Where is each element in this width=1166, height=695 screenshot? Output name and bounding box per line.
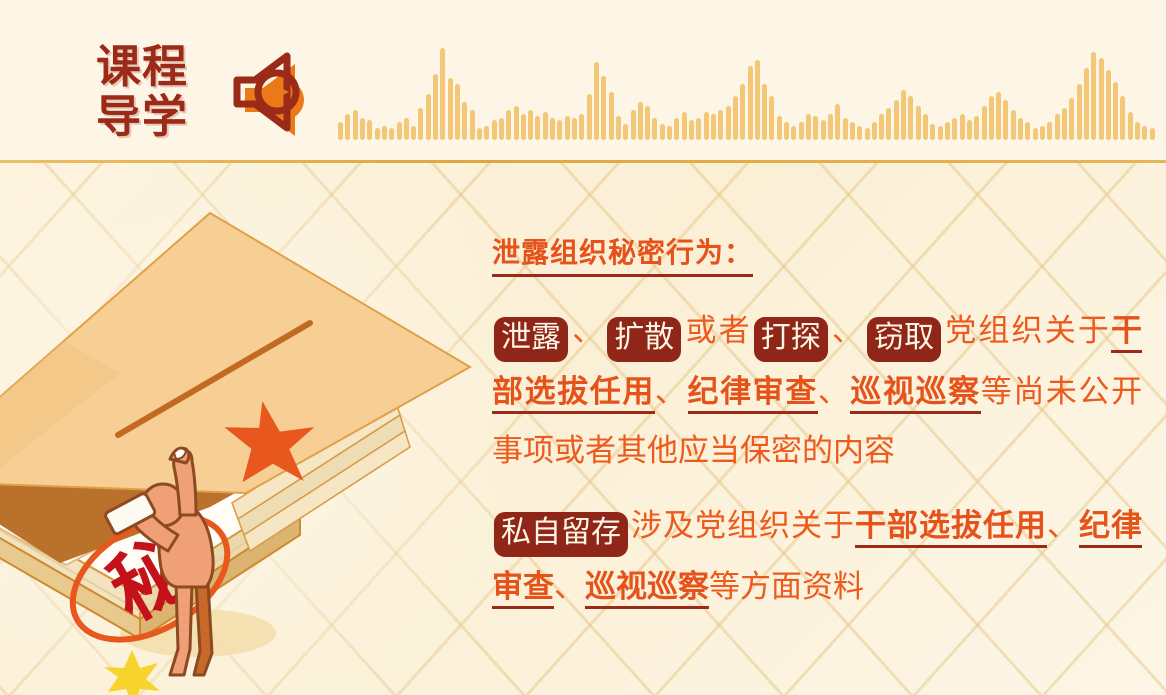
- waveform-bar: [1142, 126, 1147, 140]
- waveform-bar: [652, 118, 657, 140]
- waveform-bar: [1003, 100, 1008, 140]
- waveform-bar: [901, 90, 906, 140]
- waveform-bar: [799, 122, 804, 140]
- waveform-bar: [345, 114, 350, 140]
- waveform-bar: [1120, 96, 1125, 140]
- waveform-bar: [550, 118, 555, 140]
- waveform-bar: [1113, 82, 1118, 140]
- brand-title-line-1: 课程: [96, 42, 214, 92]
- waveform-bar: [499, 118, 504, 140]
- waveform-bar: [375, 128, 380, 140]
- waveform-bar: [1128, 112, 1133, 140]
- waveform-bar: [938, 126, 943, 140]
- waveform-bar: [638, 102, 643, 140]
- separator-4: 、: [818, 374, 851, 409]
- tag-spread: 扩散: [607, 317, 681, 362]
- waveform-bar: [857, 126, 862, 140]
- waveform-bar: [601, 76, 606, 140]
- waveform-bar: [557, 120, 562, 140]
- paragraph-leak-behaviour: 泄露、扩散或者打探、窃取党组织关于干部选拔任用、纪律审查、巡视巡察等尚未公开事项…: [492, 301, 1142, 480]
- waveform-bar: [835, 104, 840, 140]
- waveform-bar: [989, 96, 994, 140]
- waveform-bar: [367, 120, 372, 140]
- audio-waveform: [338, 22, 1156, 140]
- waveform-bar: [1047, 122, 1052, 140]
- waveform-bar: [696, 118, 701, 140]
- waveform-bar: [923, 114, 928, 140]
- waveform-bar: [543, 112, 548, 140]
- waveform-bar: [1069, 98, 1074, 140]
- waveform-bar: [843, 118, 848, 140]
- waveform-bar: [1040, 126, 1045, 140]
- waveform-bar: [674, 118, 679, 140]
- illustration-secret-dossier: 秘: [0, 163, 480, 695]
- waveform-bar: [1135, 122, 1140, 140]
- waveform-bar: [762, 84, 767, 140]
- waveform-bar: [1106, 70, 1111, 140]
- waveform-bar: [397, 122, 402, 140]
- waveform-bar: [682, 112, 687, 140]
- tag-leak: 泄露: [494, 317, 568, 362]
- waveform-bar: [418, 108, 423, 140]
- waveform-bar: [1025, 122, 1030, 140]
- section-heading-wrapper: 泄露组织秘密行为：: [492, 236, 1142, 277]
- waveform-bar: [426, 94, 431, 140]
- waveform-bar: [872, 122, 877, 140]
- waveform-bar: [769, 96, 774, 140]
- slide-canvas: 课程 导学: [0, 0, 1166, 695]
- paragraph-private-retention: 私自留存涉及党组织关于干部选拔任用、纪律审查、巡视巡察等方面资料: [492, 496, 1142, 616]
- waveform-bar: [930, 124, 935, 140]
- tag-private-retention: 私自留存: [494, 512, 628, 557]
- waveform-bar: [404, 118, 409, 140]
- waveform-bar: [1011, 110, 1016, 140]
- waveform-bar: [440, 48, 445, 140]
- waveform-bar: [952, 118, 957, 140]
- text-related-materials: 等方面资料: [709, 569, 864, 604]
- text-party-org-about: 党组织关于: [943, 313, 1111, 348]
- separator-6: 、: [554, 569, 585, 604]
- waveform-bar: [982, 106, 987, 140]
- waveform-bar: [455, 84, 460, 140]
- key2-cadre-selection: 干部选拔任用: [855, 508, 1047, 548]
- waveform-bar: [433, 74, 438, 140]
- waveform-bar: [616, 116, 621, 140]
- waveform-bar: [850, 122, 855, 140]
- megaphone-speaker-icon: [231, 52, 323, 144]
- waveform-bar: [579, 114, 584, 140]
- waveform-bar: [1150, 128, 1155, 140]
- waveform-bar: [1055, 114, 1060, 140]
- waveform-bar: [718, 110, 723, 140]
- waveform-bar: [894, 100, 899, 140]
- waveform-bar: [704, 112, 709, 140]
- conjunction-or: 或者: [683, 313, 751, 348]
- header-bar: 课程 导学: [0, 0, 1166, 163]
- waveform-bar: [660, 124, 665, 140]
- waveform-bar: [667, 126, 672, 140]
- waveform-bar: [828, 114, 833, 140]
- waveform-bar: [879, 114, 884, 140]
- waveform-bar: [740, 84, 745, 140]
- waveform-bar: [360, 118, 365, 140]
- waveform-bar: [777, 116, 782, 140]
- waveform-bar: [733, 96, 738, 140]
- waveform-bar: [711, 114, 716, 140]
- waveform-bar: [1099, 58, 1104, 140]
- waveform-bar: [506, 110, 511, 140]
- waveform-bar: [484, 126, 489, 140]
- camera-flash-icon: [104, 650, 160, 695]
- waveform-bar: [572, 118, 577, 140]
- brand-logo: 课程 导学: [96, 42, 214, 146]
- waveform-bar: [791, 126, 796, 140]
- waveform-bar: [565, 116, 570, 140]
- waveform-bar: [806, 114, 811, 140]
- waveform-bar: [755, 60, 760, 140]
- waveform-bar: [645, 106, 650, 140]
- waveform-bar: [1033, 128, 1038, 140]
- waveform-bar: [1091, 52, 1096, 140]
- waveform-bar: [338, 122, 343, 140]
- waveform-bar: [908, 96, 913, 140]
- brand-title-line-2: 导学: [96, 92, 214, 142]
- key-discipline-review: 纪律审查: [688, 374, 818, 414]
- waveform-bar: [448, 78, 453, 140]
- text-involving-party-org: 涉及党组织关于: [630, 508, 855, 543]
- waveform-bar: [462, 102, 467, 140]
- waveform-bar: [470, 110, 475, 140]
- waveform-bar: [514, 106, 519, 140]
- waveform-bar: [996, 92, 1001, 140]
- waveform-bar: [945, 122, 950, 140]
- waveform-bar: [960, 114, 965, 140]
- key2-inspection-patrol: 巡视巡察: [585, 569, 709, 609]
- waveform-bar: [813, 116, 818, 140]
- page-heading: 泄露组织秘密行为：: [492, 236, 753, 277]
- waveform-bar: [821, 120, 826, 140]
- waveform-bar: [353, 110, 358, 140]
- waveform-bar: [528, 110, 533, 140]
- key-inspection-patrol: 巡视巡察: [850, 374, 980, 414]
- waveform-bar: [1062, 108, 1067, 140]
- waveform-bar: [865, 128, 870, 140]
- waveform-bar: [609, 92, 614, 140]
- waveform-bar: [784, 122, 789, 140]
- waveform-bar: [726, 106, 731, 140]
- waveform-bar: [594, 62, 599, 140]
- waveform-bar: [535, 116, 540, 140]
- waveform-bar: [411, 126, 416, 140]
- waveform-bar: [967, 120, 972, 140]
- main-text-column: 泄露组织秘密行为： 泄露、扩散或者打探、窃取党组织关于干部选拔任用、纪律审查、巡…: [492, 236, 1142, 616]
- waveform-bar: [623, 124, 628, 140]
- waveform-bar: [382, 126, 387, 140]
- waveform-bar: [974, 116, 979, 140]
- waveform-bar: [587, 94, 592, 140]
- waveform-bar: [886, 108, 891, 140]
- waveform-bar: [748, 66, 753, 140]
- waveform-bar: [492, 120, 497, 140]
- waveform-bar: [916, 106, 921, 140]
- waveform-bar: [689, 120, 694, 140]
- waveform-bar: [1018, 118, 1023, 140]
- separator-3: 、: [655, 374, 688, 409]
- waveform-bar: [631, 110, 636, 140]
- waveform-bar: [1084, 68, 1089, 140]
- waveform-bar: [389, 128, 394, 140]
- separator-5: 、: [1047, 508, 1079, 543]
- waveform-bar: [1077, 84, 1082, 140]
- waveform-bar: [521, 114, 526, 140]
- tag-probe: 打探: [754, 317, 828, 362]
- tag-steal: 窃取: [867, 317, 941, 362]
- separator-2: 、: [830, 313, 865, 348]
- waveform-bar: [477, 128, 482, 140]
- separator-1: 、: [570, 313, 605, 348]
